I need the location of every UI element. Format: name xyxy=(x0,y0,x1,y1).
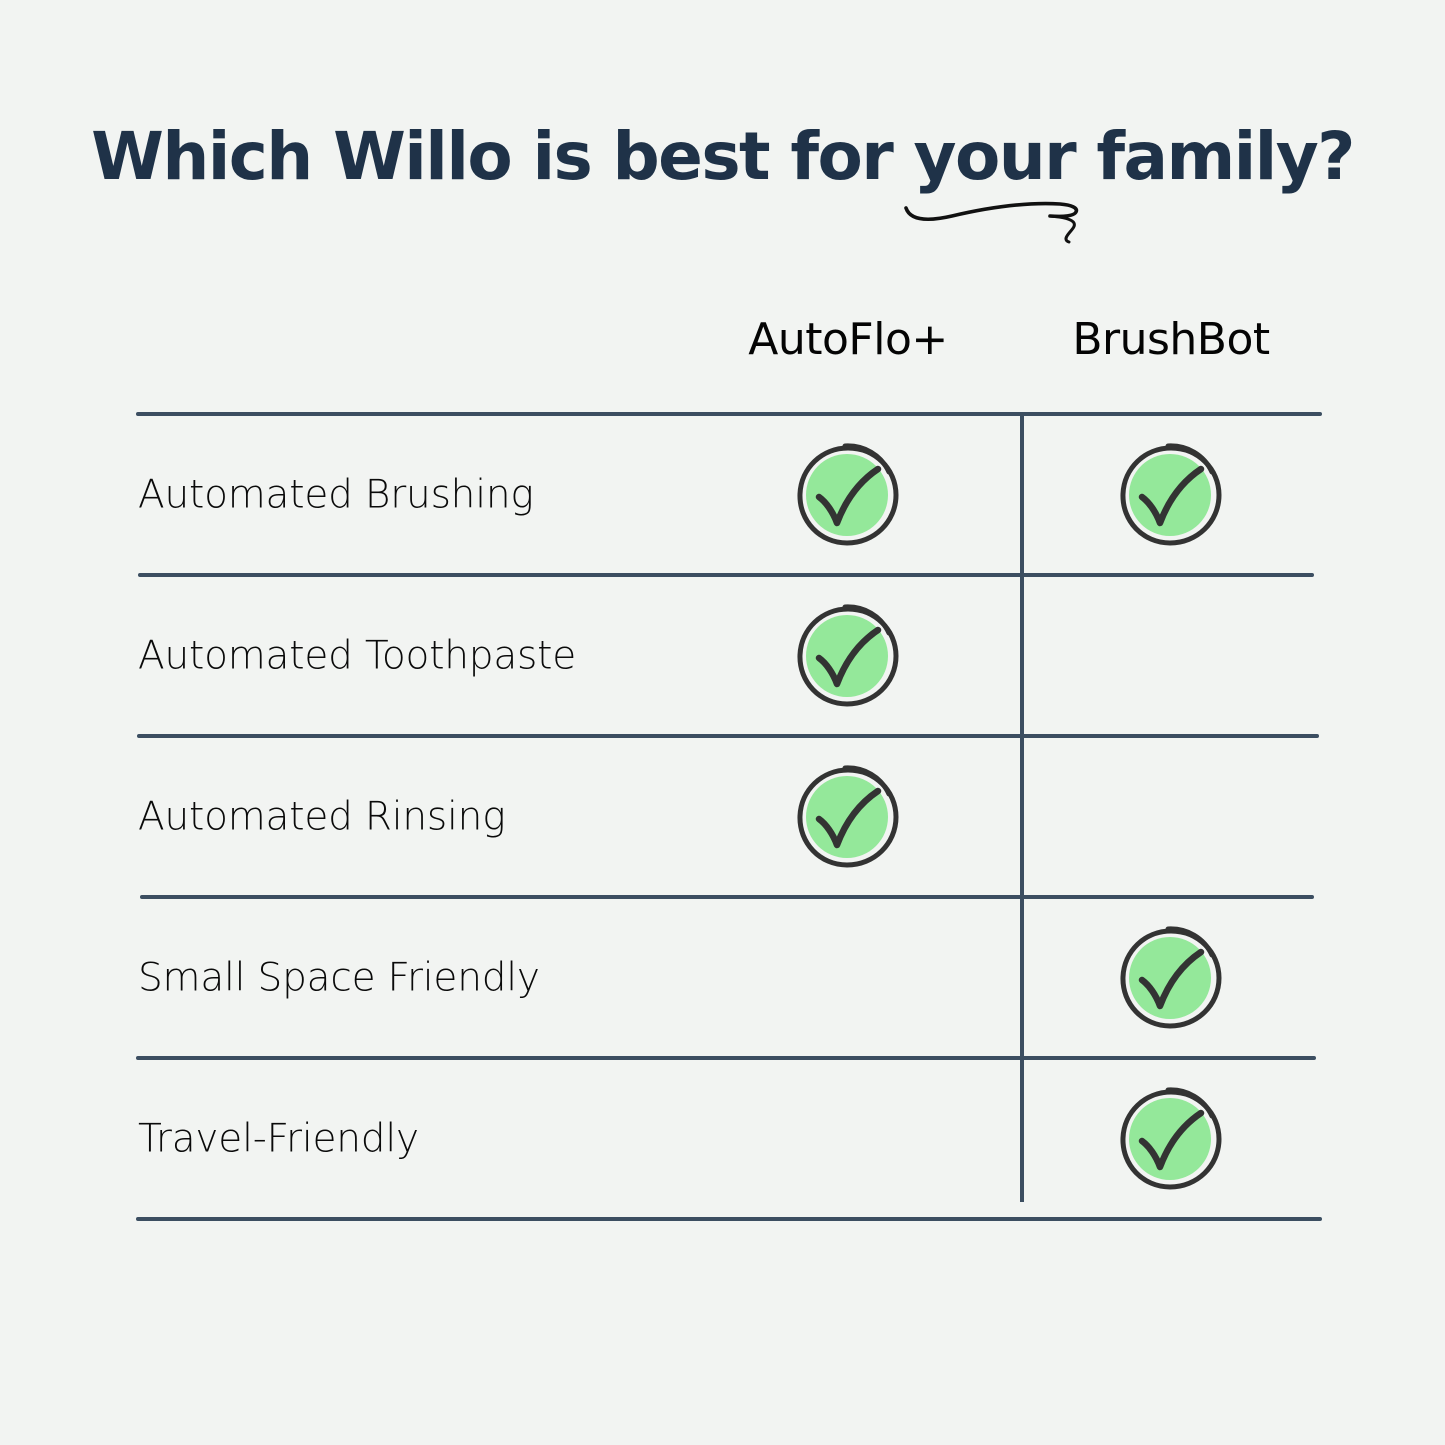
row-label-automated-brushing: Automated Brushing xyxy=(138,472,534,517)
table-header-row: AutoFlo+ BrushBot xyxy=(136,300,1322,412)
row-label-travel-friendly: Travel-Friendly xyxy=(138,1116,419,1161)
cell-autoflo-automated-toothpaste xyxy=(680,577,1016,734)
comparison-table: AutoFlo+ BrushBot Automated Brushing xyxy=(136,300,1322,1221)
check-circle-icon xyxy=(788,757,908,877)
table-row: Automated Rinsing xyxy=(136,738,1322,895)
check-circle-icon xyxy=(788,435,908,555)
cell-brushbot-automated-brushing xyxy=(1020,416,1322,573)
check-circle-icon xyxy=(788,596,908,716)
cell-brushbot-automated-toothpaste xyxy=(1020,577,1322,734)
row-label-automated-toothpaste: Automated Toothpaste xyxy=(138,633,576,678)
cell-autoflo-automated-rinsing xyxy=(680,738,1016,895)
table-row: Travel-Friendly xyxy=(136,1060,1322,1217)
check-circle-icon xyxy=(1111,918,1231,1038)
cell-brushbot-travel-friendly xyxy=(1020,1060,1322,1217)
table-row: Automated Brushing xyxy=(136,416,1322,573)
table-row: Automated Toothpaste xyxy=(136,577,1322,734)
row-label-small-space-friendly: Small Space Friendly xyxy=(138,955,540,1000)
cell-autoflo-travel-friendly xyxy=(680,1060,1016,1217)
check-circle-icon xyxy=(1111,1079,1231,1199)
page-title: Which Willo is best for your family? xyxy=(91,122,1354,191)
table-row: Small Space Friendly xyxy=(136,899,1322,1056)
cell-autoflo-small-space-friendly xyxy=(680,899,1016,1056)
table-rule-bottom xyxy=(136,1217,1322,1221)
column-header-brushbot: BrushBot xyxy=(1020,318,1322,362)
underline-swoosh-icon xyxy=(900,186,1090,246)
comparison-infographic: Which Willo is best for your family? Aut… xyxy=(0,0,1445,1445)
column-header-autoflo: AutoFlo+ xyxy=(680,318,1016,362)
check-circle-icon xyxy=(1111,435,1231,555)
cell-brushbot-automated-rinsing xyxy=(1020,738,1322,895)
row-label-automated-rinsing: Automated Rinsing xyxy=(138,794,505,839)
page-title-container: Which Willo is best for your family? xyxy=(0,122,1445,191)
cell-autoflo-automated-brushing xyxy=(680,416,1016,573)
cell-brushbot-small-space-friendly xyxy=(1020,899,1322,1056)
